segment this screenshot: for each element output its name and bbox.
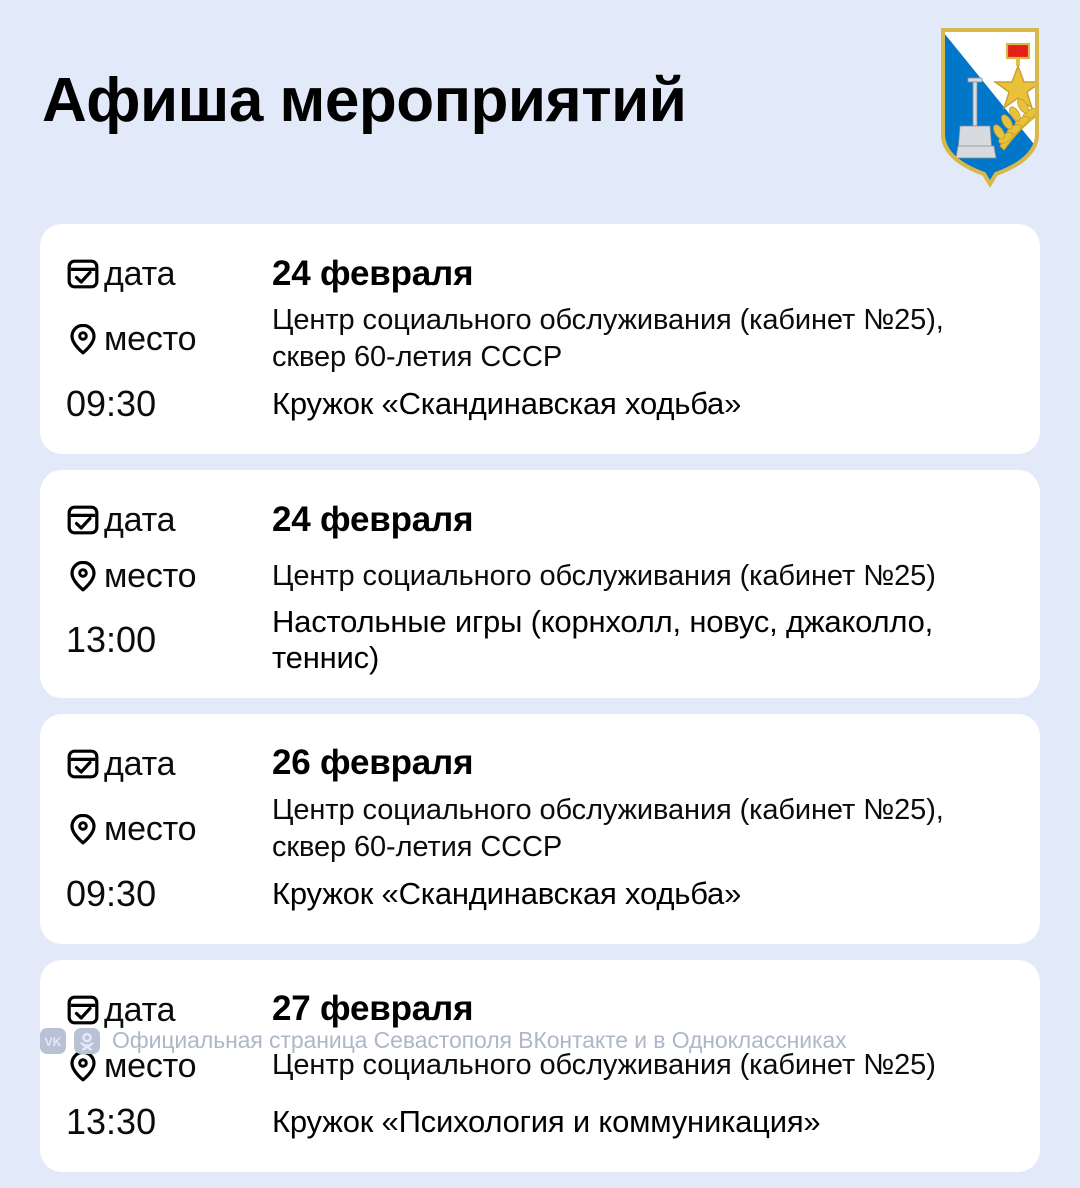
event-title: Настольные игры (корнхолл, новус, джакол…: [272, 604, 1010, 675]
map-pin-icon: [66, 322, 100, 356]
event-card[interactable]: дата 24 февраля место Центр социального …: [40, 470, 1040, 697]
date-meta: дата: [66, 246, 272, 302]
event-card[interactable]: дата 24 февраля место Центр социального …: [40, 224, 1040, 454]
event-place: Центр социального обслуживания (кабинет …: [272, 302, 1010, 376]
svg-text:VK: VK: [45, 1035, 62, 1049]
event-time: 09:30: [66, 876, 156, 912]
event-title: Кружок «Скандинавская ходьба»: [272, 876, 741, 912]
event-time: 09:30: [66, 386, 156, 422]
calendar-check-icon: [66, 993, 100, 1027]
calendar-check-icon: [66, 257, 100, 291]
calendar-check-icon: [66, 747, 100, 781]
event-title-cell: Кружок «Психология и коммуникация»: [272, 1094, 1010, 1150]
date-value-cell: 24 февраля: [272, 246, 1010, 302]
date-label: дата: [104, 257, 175, 291]
event-date: 27 февраля: [272, 991, 473, 1028]
time-meta: 09:30: [66, 866, 272, 922]
time-meta: 09:30: [66, 376, 272, 432]
event-date: 24 февраля: [272, 502, 473, 539]
place-label: место: [104, 812, 196, 846]
event-title: Кружок «Психология и коммуникация»: [272, 1104, 820, 1140]
footer-text: Официальная страница Севастополя ВКонтак…: [112, 1027, 847, 1054]
sevastopol-coat-of-arms-emblem: [938, 26, 1042, 188]
place-meta: место: [66, 792, 272, 866]
place-value-cell: Центр социального обслуживания (кабинет …: [272, 302, 1010, 376]
event-title: Кружок «Скандинавская ходьба»: [272, 386, 741, 422]
map-pin-icon: [66, 559, 100, 593]
event-time: 13:00: [66, 622, 156, 658]
page-title: Афиша мероприятий: [42, 70, 686, 132]
date-label: дата: [104, 993, 175, 1027]
date-value-cell: 24 февраля: [272, 492, 1010, 548]
place-meta: место: [66, 302, 272, 376]
place-value-cell: Центр социального обслуживания (кабинет …: [272, 792, 1010, 866]
time-meta: 13:00: [66, 604, 272, 675]
footer: VK Официальная страница Севастополя ВКон…: [40, 1027, 847, 1054]
place-label: место: [104, 322, 196, 356]
event-title-cell: Кружок «Скандинавская ходьба»: [272, 866, 1010, 922]
event-title-cell: Кружок «Скандинавская ходьба»: [272, 376, 1010, 432]
event-date: 26 февраля: [272, 745, 473, 782]
event-title-cell: Настольные игры (корнхолл, новус, джакол…: [272, 604, 1010, 675]
page-header: Афиша мероприятий: [0, 0, 1080, 200]
place-meta: место: [66, 548, 272, 604]
place-label: место: [104, 559, 196, 593]
event-place: Центр социального обслуживания (кабинет …: [272, 792, 1010, 866]
event-place: Центр социального обслуживания (кабинет …: [272, 558, 936, 595]
date-meta: дата: [66, 492, 272, 548]
date-label: дата: [104, 747, 175, 781]
place-value-cell: Центр социального обслуживания (кабинет …: [272, 548, 1010, 604]
vk-icon[interactable]: VK: [40, 1028, 66, 1054]
calendar-check-icon: [66, 503, 100, 537]
event-card[interactable]: дата 26 февраля место Центр социального …: [40, 714, 1040, 944]
event-time: 13:30: [66, 1104, 156, 1140]
date-label: дата: [104, 503, 175, 537]
event-date: 24 февраля: [272, 256, 473, 293]
date-meta: дата: [66, 736, 272, 792]
odnoklassniki-icon[interactable]: [74, 1028, 100, 1054]
event-card[interactable]: дата 27 февраля место Центр социального …: [40, 960, 1040, 1172]
map-pin-icon: [66, 812, 100, 846]
date-value-cell: 26 февраля: [272, 736, 1010, 792]
time-meta: 13:30: [66, 1094, 272, 1150]
